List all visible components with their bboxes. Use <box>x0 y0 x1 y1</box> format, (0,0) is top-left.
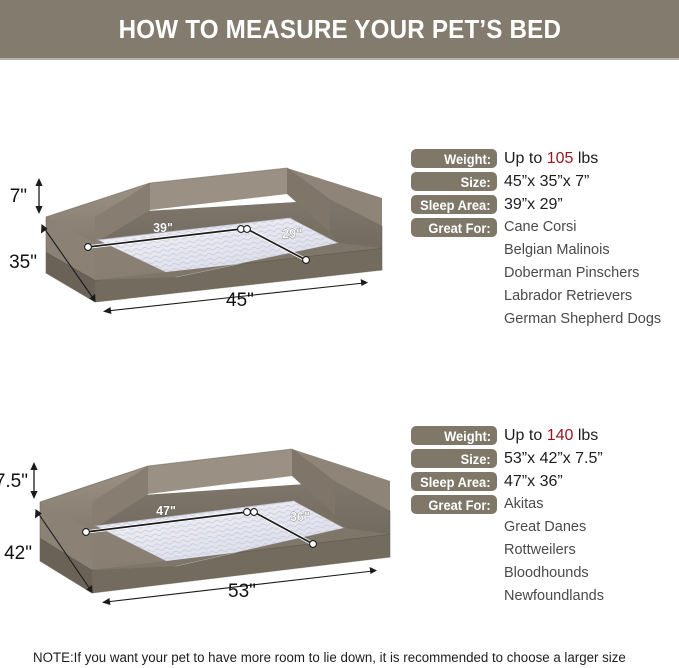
svg-text:29": 29" <box>282 227 302 241</box>
weight-number: 105 <box>547 150 574 167</box>
svg-text:39": 39" <box>153 221 173 235</box>
great-for-label: Great For: <box>429 221 491 235</box>
spec-row-sleep-area: Sleep Area: 47”x 36” <box>411 470 604 493</box>
breed-item: German Shepherd Dogs <box>504 308 661 331</box>
svg-text:7": 7" <box>10 186 27 207</box>
size-label: Size: <box>461 452 491 466</box>
sleep-area-label: Sleep Area: <box>421 198 491 212</box>
svg-text:45": 45" <box>226 290 254 311</box>
spec-row-great-for: Great For: Cane Corsi <box>411 216 661 239</box>
size-label-pill: Size: <box>411 449 497 468</box>
header-divider <box>0 58 679 60</box>
breed-item: Belgian Malinois <box>504 239 661 262</box>
weight-label: Weight: <box>444 429 491 443</box>
xlarge-bed-illustration: 47" 36" 7.5" 42" 53" <box>0 418 400 613</box>
spec-row-weight: Weight: Up to 105 lbs <box>411 147 661 170</box>
weight-prefix: Up to <box>504 427 547 444</box>
sleep-area-value: 47”x 36” <box>504 473 563 491</box>
breed-item: Akitas <box>504 493 544 516</box>
svg-text:35": 35" <box>9 252 37 273</box>
svg-text:47": 47" <box>156 504 176 518</box>
sleep-area-value: 39”x 29” <box>504 196 563 214</box>
xlarge-bed-spec-block: Weight: Up to 140 lbs Size: 53”x 42”x 7.… <box>411 424 604 608</box>
breed-item: Rottweilers <box>504 539 604 562</box>
breed-item: Bloodhounds <box>504 562 604 585</box>
weight-label-pill: Weight: <box>411 149 497 168</box>
breed-item: Doberman Pinschers <box>504 262 661 285</box>
weight-suffix: lbs <box>573 427 598 444</box>
weight-prefix: Up to <box>504 150 547 167</box>
great-for-label: Great For: <box>429 498 491 512</box>
weight-value: Up to 105 lbs <box>504 150 598 168</box>
spec-row-sleep-area: Sleep Area: 39”x 29” <box>411 193 661 216</box>
size-value: 45”x 35”x 7” <box>504 173 589 191</box>
svg-text:7.5": 7.5" <box>0 471 28 492</box>
weight-label: Weight: <box>444 152 491 166</box>
svg-text:42": 42" <box>4 543 32 564</box>
spec-row-size: Size: 45”x 35”x 7” <box>411 170 661 193</box>
size-label: Size: <box>461 175 491 189</box>
sleep-area-label: Sleep Area: <box>421 475 491 489</box>
weight-suffix: lbs <box>573 150 598 167</box>
spec-row-size: Size: 53”x 42”x 7.5” <box>411 447 604 470</box>
sleep-area-label-pill: Sleep Area: <box>411 195 497 214</box>
header-bar: HOW TO MEASURE YOUR PET’S BED <box>0 0 679 58</box>
infographic-page: HOW TO MEASURE YOUR PET’S BED <box>0 0 679 668</box>
svg-text:36": 36" <box>290 510 310 524</box>
page-title: HOW TO MEASURE YOUR PET’S BED <box>118 14 560 45</box>
size-label-pill: Size: <box>411 172 497 191</box>
weight-value: Up to 140 lbs <box>504 427 598 445</box>
breed-item: Labrador Retrievers <box>504 285 661 308</box>
spec-row-weight: Weight: Up to 140 lbs <box>411 424 604 447</box>
breed-item: Newfoundlands <box>504 585 604 608</box>
breed-item: Cane Corsi <box>504 216 577 239</box>
great-for-label-pill: Great For: <box>411 218 497 237</box>
large-bed-illustration: 39" 29" 7" 35" 45" <box>0 140 400 320</box>
spec-row-great-for: Great For: Akitas <box>411 493 604 516</box>
weight-label-pill: Weight: <box>411 426 497 445</box>
weight-number: 140 <box>547 427 574 444</box>
large-bed-spec-block: Weight: Up to 105 lbs Size: 45”x 35”x 7”… <box>411 147 661 331</box>
size-value: 53”x 42”x 7.5” <box>504 450 603 468</box>
svg-text:53": 53" <box>228 581 256 602</box>
sleep-area-label-pill: Sleep Area: <box>411 472 497 491</box>
breed-item: Great Danes <box>504 516 604 539</box>
footnote-text: NOTE:If you want your pet to have more r… <box>33 650 626 665</box>
great-for-label-pill: Great For: <box>411 495 497 514</box>
